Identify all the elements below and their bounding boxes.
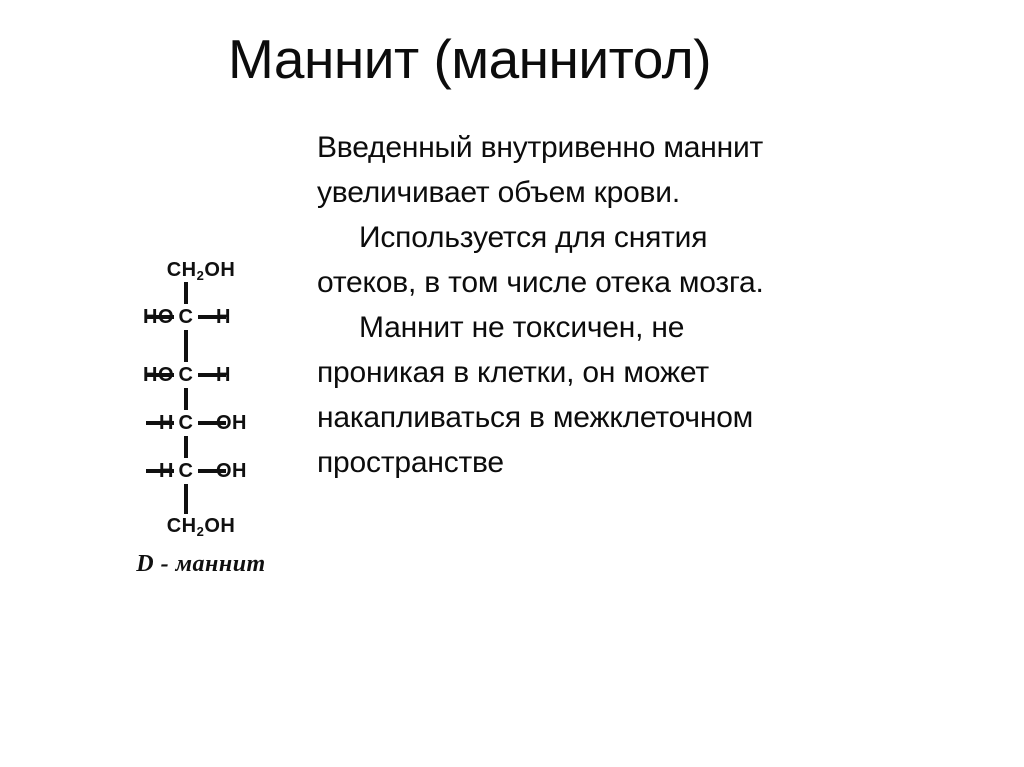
terminal-group-top: CH2OH (96, 258, 306, 282)
body-line: Используется для снятия (317, 215, 989, 260)
substituent-right: OH (216, 410, 247, 436)
carbon-atom: C (174, 410, 198, 436)
substituent-right: OH (216, 458, 247, 484)
body-line: проникая в клетки, он может (317, 350, 989, 395)
chemical-structure-diagram: CH2OH HO C H HO C H (96, 258, 306, 588)
carbon-atom: C (174, 458, 198, 484)
bond-left (146, 373, 176, 377)
substituent-right: H (216, 362, 231, 388)
terminal-group-bottom-subscript: 2 (197, 524, 205, 539)
body-text-block: Введенный внутривенно маннит увеличивает… (317, 125, 989, 485)
body-line: отеков, в том числе отека мозга. (317, 260, 989, 305)
terminal-group-bottom-suffix: OH (204, 515, 235, 537)
body-line: накапливаться в межклеточном (317, 395, 989, 440)
substituent-right: H (216, 304, 231, 330)
structure-caption: D - маннит (96, 551, 306, 578)
bond-left (146, 421, 176, 425)
bond-left (146, 315, 176, 319)
body-line: Введенный внутривенно маннит (317, 125, 989, 170)
terminal-group-bottom: CH2OH (96, 514, 306, 538)
body-line: пространстве (317, 440, 989, 485)
bond-left (146, 469, 176, 473)
slide: Маннит (маннитол) Введенный внутривенно … (0, 0, 1024, 767)
terminal-group-top-formula: CH (167, 259, 197, 281)
structure-row: HO C H (96, 304, 306, 330)
carbon-atom: C (174, 304, 198, 330)
terminal-group-bottom-formula: CH (167, 515, 197, 537)
structure-row: HO C H (96, 362, 306, 388)
structure-row: H C OH (96, 410, 306, 436)
terminal-group-top-suffix: OH (204, 259, 235, 281)
carbon-atom: C (174, 362, 198, 388)
terminal-group-top-subscript: 2 (197, 268, 205, 283)
body-line: Маннит не токсичен, не (317, 305, 989, 350)
page-title: Маннит (маннитол) (228, 28, 948, 90)
body-line: увеличивает объем крови. (317, 170, 989, 215)
structure-row: H C OH (96, 458, 306, 484)
